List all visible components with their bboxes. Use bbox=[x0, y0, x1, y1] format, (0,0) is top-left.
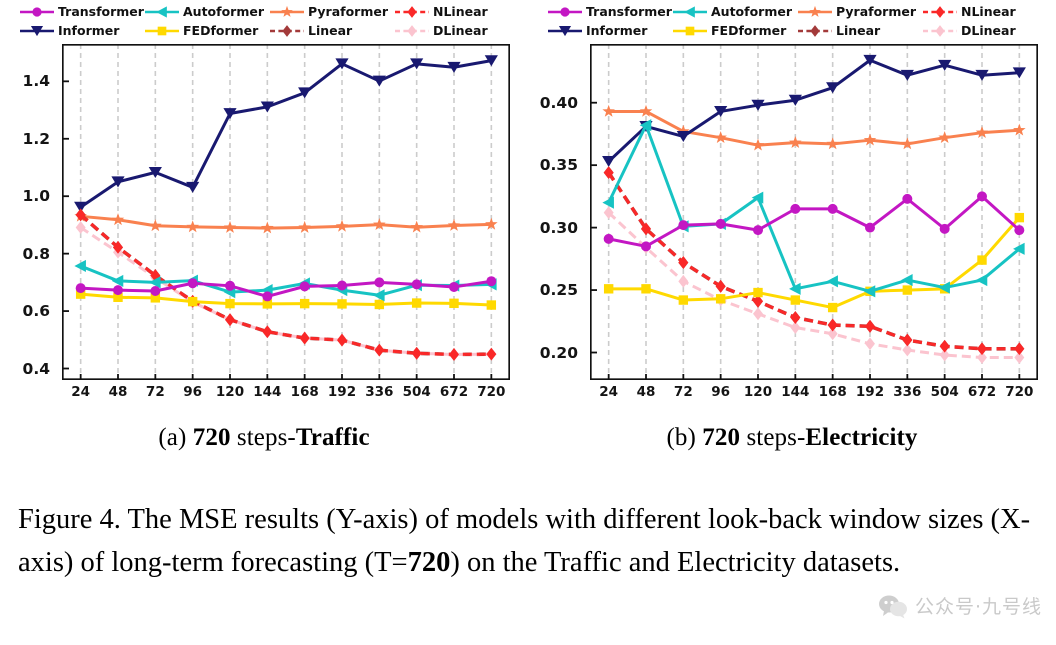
x-tick-label: 96 bbox=[711, 384, 730, 400]
x-tick-label: 48 bbox=[109, 384, 128, 400]
x-tick-label: 672 bbox=[968, 384, 996, 400]
subcaption-prefix: (a) bbox=[158, 424, 192, 451]
legend-marker-fedformer-icon bbox=[145, 24, 179, 38]
figure-4: TransformerAutoformerPyraformerNLinearIn… bbox=[0, 0, 1056, 645]
wechat-icon bbox=[878, 593, 908, 619]
x-tick-label: 144 bbox=[781, 384, 809, 400]
legend-item-dlinear: DLinear bbox=[923, 21, 1048, 40]
legend-label: Informer bbox=[586, 24, 647, 38]
legend-item-pyraformer: Pyraformer bbox=[798, 2, 923, 21]
legend-item-pyraformer: Pyraformer bbox=[270, 2, 395, 21]
y-tick-label: 0.35 bbox=[540, 156, 578, 174]
legend-marker-pyraformer-icon bbox=[270, 5, 304, 19]
y-tick-label: 0.25 bbox=[540, 281, 578, 299]
legend-item-fedformer: FEDformer bbox=[145, 21, 270, 40]
legend-item-linear: Linear bbox=[798, 21, 923, 40]
legend-label: FEDformer bbox=[183, 24, 258, 38]
subcaption-dataset: Traffic bbox=[296, 424, 370, 451]
y-tick-label: 0.40 bbox=[540, 94, 578, 112]
panel-electricity: TransformerAutoformerPyraformerNLinearIn… bbox=[528, 0, 1056, 412]
legend-label: Transformer bbox=[58, 5, 144, 19]
legend-label: Linear bbox=[308, 24, 352, 38]
legend-marker-dlinear-icon bbox=[395, 24, 429, 38]
figure-caption: Figure 4. The MSE results (Y-axis) of mo… bbox=[18, 498, 1038, 584]
legend-item-transformer: Transformer bbox=[548, 2, 673, 21]
x-tick-label: 168 bbox=[291, 384, 319, 400]
caption-bold-value: 720 bbox=[408, 547, 451, 578]
legend-label: NLinear bbox=[433, 5, 488, 19]
x-tick-label: 504 bbox=[403, 384, 431, 400]
y-tick-label: 1.4 bbox=[23, 72, 50, 90]
x-tick-label: 504 bbox=[931, 384, 959, 400]
legend-label: Pyraformer bbox=[308, 5, 388, 19]
chart-canvas bbox=[590, 44, 1038, 380]
legend-marker-nlinear-icon bbox=[923, 5, 957, 19]
x-tick-label: 120 bbox=[216, 384, 244, 400]
subcaption-prefix: (b) bbox=[666, 424, 702, 451]
subcaption-traffic: (a) 720 steps-Traffic bbox=[0, 424, 528, 452]
y-axis-labels-traffic: 0.40.60.81.01.21.4 bbox=[0, 44, 58, 380]
subcaption-steps: 720 bbox=[702, 424, 740, 451]
caption-part-2: ) on the Traffic and Electricity dataset… bbox=[450, 547, 900, 578]
y-axis-labels-electricity: 0.200.250.300.350.40 bbox=[528, 44, 586, 380]
legend-item-linear: Linear bbox=[270, 21, 395, 40]
legend-marker-autoformer-icon bbox=[145, 5, 179, 19]
x-tick-label: 120 bbox=[744, 384, 772, 400]
plot-area-electricity bbox=[590, 44, 1038, 380]
legend-marker-autoformer-icon bbox=[673, 5, 707, 19]
legend-marker-transformer-icon bbox=[548, 5, 582, 19]
legend-label: Transformer bbox=[586, 5, 672, 19]
legend-traffic: TransformerAutoformerPyraformerNLinearIn… bbox=[20, 2, 520, 40]
x-tick-label: 168 bbox=[819, 384, 847, 400]
legend-label: DLinear bbox=[961, 24, 1016, 38]
x-tick-label: 192 bbox=[328, 384, 356, 400]
legend-marker-nlinear-icon bbox=[395, 5, 429, 19]
subcaption-mid: steps- bbox=[231, 424, 296, 451]
x-axis-labels-electricity: 24487296120144168192336504672720 bbox=[590, 384, 1038, 408]
y-tick-label: 0.20 bbox=[540, 344, 578, 362]
legend-label: Informer bbox=[58, 24, 119, 38]
y-tick-label: 1.0 bbox=[23, 187, 50, 205]
legend-item-autoformer: Autoformer bbox=[673, 2, 798, 21]
legend-label: DLinear bbox=[433, 24, 488, 38]
legend-label: Autoformer bbox=[711, 5, 792, 19]
legend-marker-informer-icon bbox=[548, 24, 582, 38]
legend-marker-linear-icon bbox=[798, 24, 832, 38]
legend-item-dlinear: DLinear bbox=[395, 21, 520, 40]
y-tick-label: 0.8 bbox=[23, 245, 50, 263]
legend-marker-informer-icon bbox=[20, 24, 54, 38]
subcaption-dataset: Electricity bbox=[805, 424, 917, 451]
legend-label: FEDformer bbox=[711, 24, 786, 38]
y-tick-label: 0.6 bbox=[23, 302, 50, 320]
x-tick-label: 720 bbox=[477, 384, 505, 400]
legend-label: Pyraformer bbox=[836, 5, 916, 19]
legend-item-autoformer: Autoformer bbox=[145, 2, 270, 21]
x-axis-labels-traffic: 24487296120144168192336504672720 bbox=[62, 384, 510, 408]
x-tick-label: 24 bbox=[71, 384, 90, 400]
legend-marker-fedformer-icon bbox=[673, 24, 707, 38]
subcaption-electricity: (b) 720 steps-Electricity bbox=[528, 424, 1056, 452]
legend-label: Linear bbox=[836, 24, 880, 38]
x-tick-label: 144 bbox=[253, 384, 281, 400]
x-tick-label: 72 bbox=[146, 384, 165, 400]
legend-marker-linear-icon bbox=[270, 24, 304, 38]
x-tick-label: 336 bbox=[365, 384, 393, 400]
x-tick-label: 96 bbox=[183, 384, 202, 400]
subcaption-mid: steps- bbox=[740, 424, 805, 451]
legend-electricity: TransformerAutoformerPyraformerNLinearIn… bbox=[548, 2, 1048, 40]
chart-canvas bbox=[62, 44, 510, 380]
watermark-text: 公众号·九号线 bbox=[915, 592, 1042, 619]
watermark: 公众号·九号线 bbox=[878, 592, 1042, 619]
panel-row: TransformerAutoformerPyraformerNLinearIn… bbox=[0, 0, 1056, 412]
x-tick-label: 24 bbox=[599, 384, 618, 400]
legend-marker-dlinear-icon bbox=[923, 24, 957, 38]
y-tick-label: 1.2 bbox=[23, 130, 50, 148]
subcaption-steps: 720 bbox=[193, 424, 231, 451]
legend-item-informer: Informer bbox=[20, 21, 145, 40]
legend-marker-pyraformer-icon bbox=[798, 5, 832, 19]
legend-label: NLinear bbox=[961, 5, 1016, 19]
x-tick-label: 672 bbox=[440, 384, 468, 400]
x-tick-label: 48 bbox=[637, 384, 656, 400]
x-tick-label: 336 bbox=[893, 384, 921, 400]
legend-item-informer: Informer bbox=[548, 21, 673, 40]
x-tick-label: 720 bbox=[1005, 384, 1033, 400]
x-tick-label: 192 bbox=[856, 384, 884, 400]
legend-item-fedformer: FEDformer bbox=[673, 21, 798, 40]
y-tick-label: 0.30 bbox=[540, 219, 578, 237]
legend-label: Autoformer bbox=[183, 5, 264, 19]
y-tick-label: 0.4 bbox=[23, 360, 50, 378]
panel-traffic: TransformerAutoformerPyraformerNLinearIn… bbox=[0, 0, 528, 412]
legend-item-transformer: Transformer bbox=[20, 2, 145, 21]
legend-item-nlinear: NLinear bbox=[395, 2, 520, 21]
legend-item-nlinear: NLinear bbox=[923, 2, 1048, 21]
legend-marker-transformer-icon bbox=[20, 5, 54, 19]
plot-area-traffic bbox=[62, 44, 510, 380]
x-tick-label: 72 bbox=[674, 384, 693, 400]
